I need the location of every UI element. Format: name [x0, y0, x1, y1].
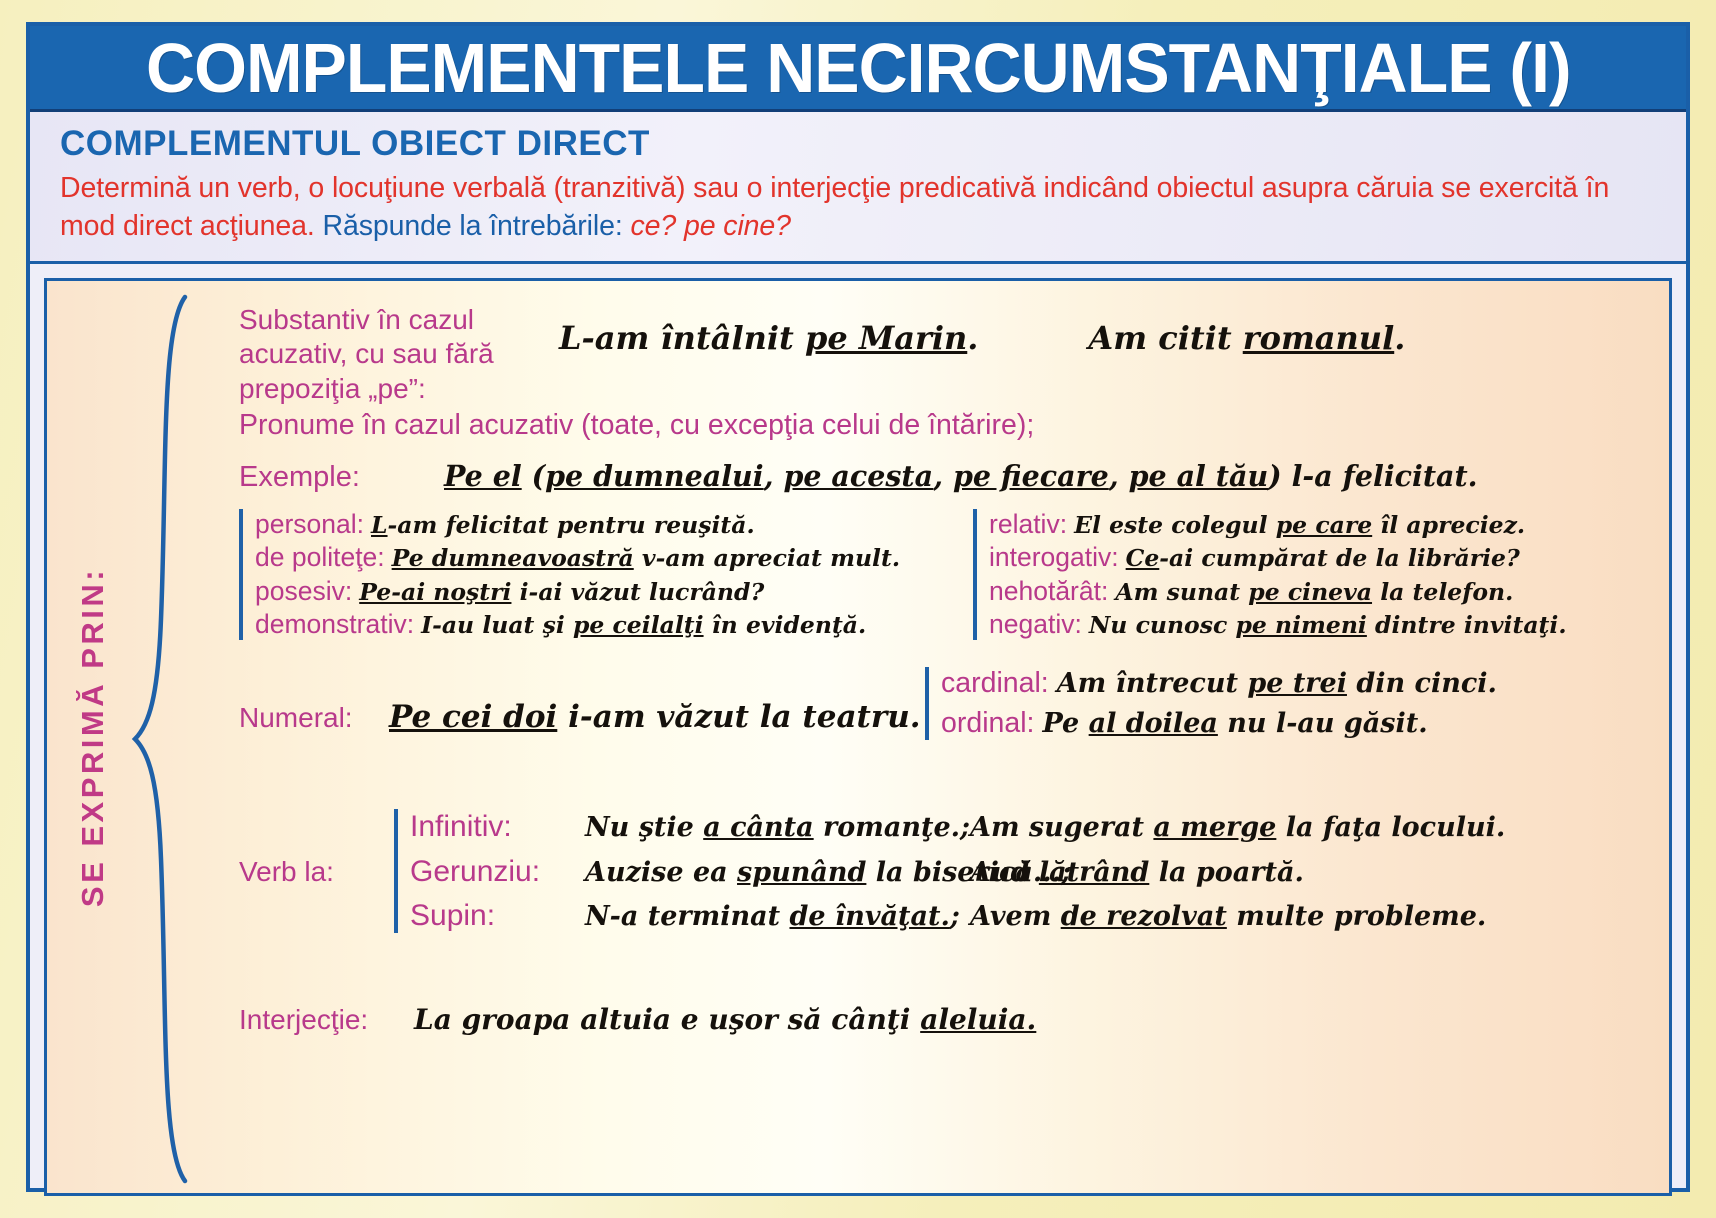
example-underlined: al doilea [1089, 708, 1218, 739]
example-pre: El este colegul [1074, 511, 1276, 539]
item-label: nehotărât: [989, 576, 1108, 607]
verb-form-row: Supin:N-a terminat de învăţat.;Avem de r… [410, 898, 1505, 933]
ex-open: ( [522, 459, 545, 493]
page-title: COMPLEMENTELE NECIRCUMSTANŢIALE (I) [146, 28, 1571, 108]
verb-label: Verb la: [239, 855, 394, 888]
example-pre: N-a terminat [585, 901, 789, 932]
poster-root: COMPLEMENTELE NECIRCUMSTANŢIALE (I) COMP… [0, 0, 1716, 1218]
section-heading: COMPLEMENTUL OBIECT DIRECT [60, 124, 1656, 164]
substantiv-label: Substantiv în cazul acuzativ, cu sau făr… [239, 303, 539, 405]
example-underlined: Ce [1126, 544, 1160, 572]
list-item: cardinal:Am întrecut pe trei din cinci. [941, 667, 1497, 701]
verb-form-items: Infinitiv:Nu ştie a cânta romanţe.;Am su… [410, 809, 1505, 933]
example-post: ; [950, 901, 960, 932]
item-label: demonstrativ: [255, 609, 414, 640]
example-underlined: pe cineva [1248, 578, 1372, 606]
item-label: relativ: [989, 509, 1067, 540]
example-post: i-ai văzut lucrând? [511, 578, 764, 606]
ex-close: ) l-a felicitat. [1268, 459, 1477, 493]
ex-u1: Pe el [444, 459, 522, 493]
example-pre: Am sugerat [970, 812, 1153, 843]
verb-forms-column: Infinitiv:Nu ştie a cânta romanţe.;Am su… [394, 809, 1505, 933]
item-example: Pe-ai noştri i-ai văzut lucrând? [359, 578, 764, 606]
verb-form-example: Am sugerat a merge la faţa locului. [970, 812, 1505, 843]
item-example: Nu cunosc pe nimeni dintre invitaţi. [1089, 611, 1567, 639]
row-verb: Verb la: Infinitiv:Nu ştie a cânta roman… [239, 809, 1505, 933]
verb-form-label: Infinitiv: [410, 809, 585, 844]
example-pre: La groapa altuia e uşor să cânţi [414, 1003, 920, 1036]
list-item: demonstrativ:I-au luat şi pe ceilalţi în… [255, 609, 900, 640]
example-post: v-am apreciat mult. [634, 544, 900, 572]
content-rows: Substantiv în cazul acuzativ, cu sau făr… [207, 281, 1669, 1193]
interjectie-example: La groapa altuia e uşor să cânţi aleluia… [414, 1003, 1036, 1036]
pronume-exemple-text: Pe el (pe dumnealui, pe acesta, pe fieca… [444, 459, 1478, 493]
verb-form-example: Aud lătrând la poartă. [970, 857, 1304, 888]
example-pre: Am întrecut [1057, 668, 1248, 699]
title-banner: COMPLEMENTELE NECIRCUMSTANŢIALE (I) [30, 26, 1686, 112]
pronume-columns: personal:L-am felicitat pentru reuşită.d… [239, 509, 1629, 640]
substantiv-example-1: L-am întâlnit pe Marin. [559, 319, 978, 357]
example-pre: Nu cunosc [1089, 611, 1236, 639]
example-pre: Avem [970, 901, 1061, 932]
item-example: Am întrecut pe trei din cinci. [1057, 668, 1497, 699]
example-underlined: romanul [1243, 319, 1394, 357]
example-underlined: spunând [737, 857, 866, 888]
side-label-se-exprima-prin: SE EXPRIMĂ PRIN: [75, 567, 111, 907]
verb-form-row: Infinitiv:Nu ştie a cânta romanţe.;Am su… [410, 809, 1505, 844]
example-underlined: Pe cei doi [389, 699, 557, 735]
row-substantiv: Substantiv în cazul acuzativ, cu sau făr… [239, 303, 1619, 405]
column-divider-bar [925, 667, 929, 740]
example-post: romanţe.; [814, 812, 970, 843]
item-example: Am sunat pe cineva la telefon. [1115, 578, 1513, 606]
column-divider-bar [973, 509, 977, 640]
list-item: personal:L-am felicitat pentru reuşită. [255, 509, 900, 540]
ex-sep3: , [1109, 459, 1129, 493]
item-example: El este colegul pe care îl apreciez. [1074, 511, 1525, 539]
numeral-label: Numeral: [239, 701, 389, 734]
example-pre: Aud [970, 857, 1039, 888]
pronume-column-left: personal:L-am felicitat pentru reuşită.d… [239, 509, 959, 640]
subtitle-band: COMPLEMENTUL OBIECT DIRECT Determină un … [30, 112, 1686, 264]
list-item: posesiv:Pe-ai noştri i-ai văzut lucrând? [255, 576, 900, 607]
ex-u3: pe acesta [783, 459, 933, 493]
item-label: cardinal: [941, 667, 1049, 701]
example-pre: Auzise ea [585, 857, 737, 888]
pronume-heading: Pronume în cazul acuzativ (toate, cu exc… [239, 409, 1034, 443]
item-example: Pe dumneavoastră v-am apreciat mult. [392, 544, 900, 572]
example-pre: Pe [1042, 708, 1088, 739]
example-post: . [967, 319, 978, 357]
list-item: relativ:El este colegul pe care îl aprec… [989, 509, 1567, 540]
list-item: negativ:Nu cunosc pe nimeni dintre invit… [989, 609, 1567, 640]
example-post: la faţa locului. [1276, 812, 1505, 843]
example-underlined: de învăţat. [789, 901, 949, 932]
main-content-panel: SE EXPRIMĂ PRIN: Substantiv în cazul acu… [44, 278, 1672, 1196]
verb-form-label: Gerunziu: [410, 854, 585, 889]
example-post: dintre invitaţi. [1367, 611, 1567, 639]
column-divider-bar [239, 509, 243, 640]
example-post: nu l-au găsit. [1218, 708, 1428, 739]
ex-u4: pe fiecare [953, 459, 1109, 493]
verb-form-example: N-a terminat de învăţat.; [585, 901, 970, 932]
item-label: ordinal: [941, 707, 1034, 741]
example-post: în evidenţă. [704, 611, 867, 639]
row-numeral: Numeral: Pe cei doi i-am văzut la teatru… [239, 699, 921, 735]
example-underlined: Pe-ai noştri [359, 578, 511, 606]
item-example: Ce-ai cumpărat de la librărie? [1126, 544, 1520, 572]
exemple-label: Exemple: [239, 460, 444, 494]
example-underlined: aleluia. [920, 1003, 1036, 1036]
row-interjectie: Interjecţie: La groapa altuia e uşor să … [239, 1003, 1036, 1036]
item-example: L-am felicitat pentru reuşită. [371, 511, 755, 539]
verb-form-example: Auzise ea spunând la biserică...; [585, 857, 970, 888]
list-item: de politeţe:Pe dumneavoastră v-am apreci… [255, 542, 900, 573]
ex-u2: pe dumnealui [545, 459, 763, 493]
list-item: interogativ:Ce-ai cumpărat de la librări… [989, 542, 1567, 573]
pronume-column-right: relativ:El este colegul pe care îl aprec… [973, 509, 1567, 640]
item-label: negativ: [989, 609, 1082, 640]
item-label: de politeţe: [255, 542, 385, 573]
verb-form-example: Nu ştie a cânta romanţe.; [585, 812, 970, 843]
numeral-kind-items: cardinal:Am întrecut pe trei din cinci.o… [941, 667, 1497, 740]
example-underlined: pe Marin [805, 319, 967, 357]
example-underlined: pe trei [1247, 668, 1347, 699]
ex-u5: pe al tău [1129, 459, 1269, 493]
definition-text: Determină un verb, o locuţiune verbală (… [60, 170, 1656, 245]
curly-brace-icon [127, 289, 197, 1189]
example-pre: L-am întâlnit [559, 319, 805, 357]
verb-form-row: Gerunziu:Auzise ea spunând la biserică..… [410, 854, 1505, 889]
example-underlined: a cânta [703, 812, 813, 843]
example-underlined: lătrând [1039, 857, 1149, 888]
example-underlined: Pe dumneavoastră [392, 544, 634, 572]
item-example: Pe al doilea nu l-au găsit. [1042, 708, 1427, 739]
definition-questions: ce? pe cine? [623, 210, 791, 242]
example-post: multe probleme. [1227, 901, 1486, 932]
verb-form-label: Supin: [410, 898, 585, 933]
example-underlined: pe nimeni [1235, 611, 1366, 639]
example-post: i-am văzut la teatru. [557, 699, 920, 735]
example-post: . [1394, 319, 1405, 357]
example-post: la telefon. [1372, 578, 1513, 606]
pronume-right-items: relativ:El este colegul pe care îl aprec… [989, 509, 1567, 640]
example-pre: Nu ştie [585, 812, 703, 843]
pronume-exemple-row: Exemple: Pe el (pe dumnealui, pe acesta,… [239, 459, 1478, 494]
ex-sep2: , [933, 459, 953, 493]
item-label: interogativ: [989, 542, 1119, 573]
numeral-kinds-column: cardinal:Am întrecut pe trei din cinci.o… [925, 667, 1497, 740]
example-post: din cinci. [1347, 668, 1497, 699]
example-underlined: L [371, 511, 388, 539]
poster-inner-frame: COMPLEMENTELE NECIRCUMSTANŢIALE (I) COMP… [26, 22, 1690, 1192]
example-underlined: de rezolvat [1061, 901, 1227, 932]
example-pre: Am sunat [1115, 578, 1248, 606]
example-post: îl apreciez. [1372, 511, 1525, 539]
item-label: posesiv: [255, 576, 352, 607]
example-post: la poartă. [1149, 857, 1304, 888]
substantiv-example-2: Am citit romanul. [1088, 319, 1405, 357]
example-post: -ai cumpărat de la librărie? [1159, 544, 1519, 572]
example-underlined: pe ceilalţi [573, 611, 704, 639]
item-label: personal: [255, 509, 364, 540]
pronume-left-items: personal:L-am felicitat pentru reuşită.d… [255, 509, 900, 640]
column-divider-bar [394, 809, 398, 933]
ex-sep1: , [764, 459, 784, 493]
numeral-example: Pe cei doi i-am văzut la teatru. [389, 699, 921, 735]
example-post: -am felicitat pentru reuşită. [388, 511, 755, 539]
list-item: nehotărât:Am sunat pe cineva la telefon. [989, 576, 1567, 607]
definition-part1: Determină un verb, o locuţiune verbală (… [60, 172, 1609, 242]
item-example: I-au luat şi pe ceilalţi în evidenţă. [421, 611, 866, 639]
interjectie-label: Interjecţie: [239, 1003, 414, 1036]
definition-part2: Răspunde la întrebările: [322, 210, 622, 242]
example-underlined: pe care [1276, 511, 1372, 539]
example-pre: I-au luat şi [421, 611, 573, 639]
verb-form-example: Avem de rezolvat multe probleme. [970, 901, 1486, 932]
list-item: ordinal:Pe al doilea nu l-au găsit. [941, 707, 1497, 741]
example-underlined: a merge [1153, 812, 1276, 843]
example-pre: Am citit [1088, 319, 1242, 357]
